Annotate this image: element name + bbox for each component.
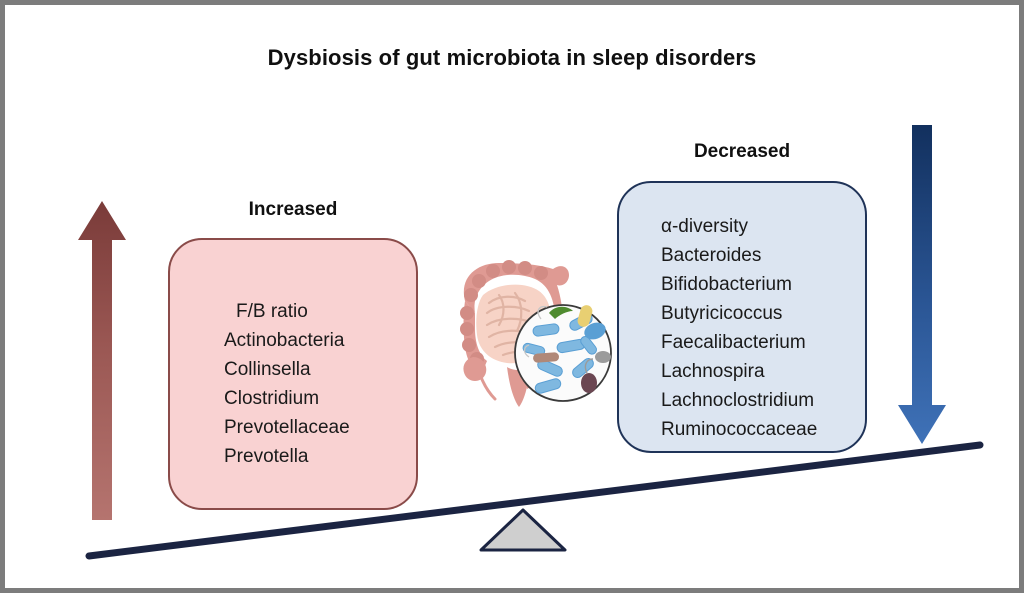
down-arrow-icon — [895, 122, 949, 447]
figure-frame: Dysbiosis of gut microbiota in sleep dis… — [0, 0, 1024, 593]
list-item: Lachnospira — [661, 357, 817, 386]
list-item: Butyricicoccus — [661, 299, 817, 328]
list-item: Collinsella — [224, 355, 350, 384]
increased-label: Increased — [168, 199, 418, 221]
list-item: Clostridium — [224, 384, 350, 413]
fulcrum-triangle — [481, 510, 565, 550]
list-item: Prevotellaceae — [224, 413, 350, 442]
list-item: Prevotella — [224, 442, 350, 471]
increased-taxa-list: F/B ratio Actinobacteria Collinsella Clo… — [224, 297, 350, 471]
list-item: Bacteroides — [661, 241, 817, 270]
page-title: Dysbiosis of gut microbiota in sleep dis… — [5, 45, 1019, 71]
figure-canvas: Dysbiosis of gut microbiota in sleep dis… — [5, 5, 1019, 588]
decreased-taxa-list: α-diversity Bacteroides Bifidobacterium … — [661, 212, 817, 444]
up-arrow-icon — [75, 198, 129, 523]
list-item: Bifidobacterium — [661, 270, 817, 299]
list-item: Lachnoclostridium — [661, 386, 817, 415]
list-item: Actinobacteria — [224, 326, 350, 355]
list-item: Faecalibacterium — [661, 328, 817, 357]
intestine-illustration-icon — [437, 249, 615, 411]
list-item: Ruminococcaceae — [661, 415, 817, 444]
decreased-label: Decreased — [617, 141, 867, 163]
list-item: α-diversity — [661, 212, 817, 241]
list-item: F/B ratio — [224, 297, 350, 326]
